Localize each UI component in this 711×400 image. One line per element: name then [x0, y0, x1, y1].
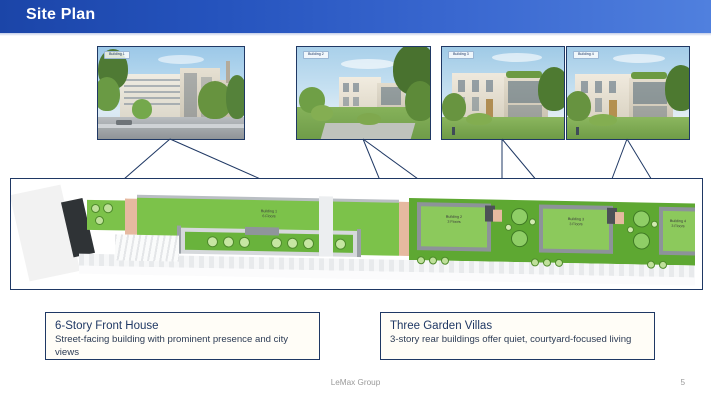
thumbnail-building-2[interactable]: Building 2 — [296, 46, 431, 140]
render-window-band — [124, 85, 180, 87]
site-plan-tree — [91, 204, 100, 213]
site-plan-villa-2-roof — [421, 206, 487, 247]
site-plan-street-tree — [417, 256, 425, 264]
site-plan-villa-3-terrace — [615, 212, 624, 224]
site-plan-label-name: Building 3 — [568, 217, 584, 221]
site-plan-label-name: Building 4 — [670, 219, 686, 223]
caption-title: 6-Story Front House — [55, 319, 310, 333]
render-window — [595, 81, 602, 93]
render-shrub — [357, 113, 381, 125]
site-plan-tree — [287, 238, 298, 249]
site-plan-terrace — [125, 199, 137, 235]
caption-body: Street-facing building with prominent pr… — [55, 334, 310, 360]
site-plan-label-building-2: Building 2 3 Floors — [422, 214, 486, 225]
caption-front-house: 6-Story Front House Street-facing buildi… — [45, 312, 320, 360]
render-roof-planting — [506, 71, 542, 78]
thumbnail-building-4[interactable]: Building 4 — [566, 46, 690, 140]
thumbnail-label: Building 2 — [303, 51, 329, 59]
site-plan-parking-hatch — [115, 234, 179, 261]
render-window — [343, 83, 349, 92]
site-plan-tree — [271, 237, 282, 248]
render-person — [452, 127, 455, 135]
site-plan-label-name: Building 2 — [446, 215, 462, 219]
site-plan-shrub — [627, 226, 634, 233]
render-window-band — [124, 91, 180, 93]
site-plan-base: Building 1 6 Floors Building 2 3 Floors — [19, 179, 695, 288]
site-plan-tree — [223, 236, 234, 247]
render-glass-facade — [633, 82, 667, 104]
render-cloud — [341, 59, 395, 69]
site-plan-ramp — [399, 202, 409, 256]
render-garden — [442, 117, 564, 139]
site-plan-shrub — [505, 224, 512, 231]
render-balcony-column — [184, 73, 197, 117]
slide-header-bar: Site Plan — [0, 0, 711, 33]
slide-site-plan: Site Plan Building 1 — [0, 0, 711, 400]
render-tree — [132, 99, 152, 119]
site-plan-tree — [95, 216, 104, 225]
header-shadow — [0, 33, 711, 36]
site-plan-label-building-3: Building 3 3 Floors — [544, 217, 608, 228]
render-window — [458, 80, 465, 92]
thumbnail-label: Building 1 — [104, 51, 130, 59]
render-tree — [226, 75, 245, 119]
render-shrub — [589, 114, 617, 126]
caption-title: Three Garden Villas — [390, 319, 645, 333]
site-plan-courtyard-feature — [511, 208, 528, 225]
render-window — [472, 80, 479, 92]
render-window-band — [124, 79, 180, 81]
site-plan-label-building-4: Building 4 3 Floors — [657, 219, 699, 229]
render-window — [343, 97, 349, 106]
render-shrub — [311, 105, 333, 121]
site-plan-diagram[interactable]: Building 1 6 Floors Building 2 3 Floors — [10, 178, 703, 290]
render-tree — [442, 93, 466, 121]
site-plan-villa-3-roof — [543, 209, 609, 250]
render-cloud — [613, 54, 665, 63]
site-plan-tree — [207, 236, 218, 247]
footer-page-number: 5 — [680, 378, 685, 387]
site-plan-label-floors: 3 Floors — [671, 224, 684, 228]
render-glass-facade — [508, 81, 542, 103]
site-plan-wing-core — [245, 227, 279, 236]
site-plan-label-name: Building 1 — [261, 209, 277, 213]
render-cloud — [492, 53, 542, 62]
render-garden — [567, 117, 689, 139]
thumbnail-building-1[interactable]: Building 1 — [97, 46, 245, 140]
site-plan-label-floors: 3 Floors — [447, 219, 460, 223]
caption-body: 3-story rear buildings offer quiet, cour… — [390, 334, 645, 347]
site-plan-street-tree — [555, 259, 563, 267]
site-plan-street-tree — [531, 258, 539, 266]
site-plan-label-floors: 6 Floors — [262, 214, 275, 218]
site-plan-street-tree — [543, 259, 551, 267]
render-window — [353, 83, 359, 92]
render-window-band — [124, 97, 180, 99]
site-plan-wing-wall — [357, 229, 361, 257]
render-glass-facade — [381, 87, 401, 105]
render-person — [576, 127, 579, 135]
caption-garden-villas: Three Garden Villas 3-story rear buildin… — [380, 312, 655, 360]
site-plan-tree — [239, 237, 250, 248]
site-plan-street-tree — [647, 261, 655, 269]
render-tree — [665, 65, 690, 111]
site-plan-street-tree — [429, 256, 437, 264]
site-plan-courtyard-feature — [633, 210, 650, 227]
site-plan-courtyard-feature — [511, 230, 528, 247]
render-roof-planting — [631, 72, 667, 79]
site-plan-label-building-1: Building 1 6 Floors — [217, 208, 321, 219]
thumbnail-label: Building 3 — [448, 51, 474, 59]
render-window — [472, 97, 479, 111]
site-plan-shrub — [529, 218, 536, 225]
render-tree — [566, 91, 591, 121]
render-window — [486, 80, 493, 92]
site-plan-label-floors: 3 Floors — [569, 222, 582, 226]
footer-organization: LeMax Group — [0, 378, 711, 387]
site-plan-courtyard-feature — [633, 232, 650, 249]
site-plan-access-way — [319, 196, 333, 256]
page-title: Site Plan — [26, 6, 95, 24]
site-plan-street-tree — [441, 257, 449, 265]
render-cloud — [158, 55, 204, 64]
site-plan-tree — [335, 239, 346, 250]
site-plan-tree — [103, 203, 113, 213]
site-plan-villa-4-roof — [663, 211, 695, 252]
render-window — [609, 81, 616, 93]
render-car — [116, 120, 132, 125]
site-plan-tree — [303, 238, 314, 249]
render-tree — [538, 67, 565, 111]
thumbnail-label: Building 4 — [573, 51, 599, 59]
render-shrub — [466, 113, 492, 125]
site-plan-villa-2-terrace — [493, 210, 502, 222]
render-tree — [405, 81, 431, 121]
render-tree — [97, 77, 120, 111]
site-plan-street-tree — [659, 261, 667, 269]
thumbnail-building-3[interactable]: Building 3 — [441, 46, 565, 140]
render-window — [353, 97, 359, 106]
render-window — [595, 98, 602, 112]
render-path — [321, 123, 416, 139]
